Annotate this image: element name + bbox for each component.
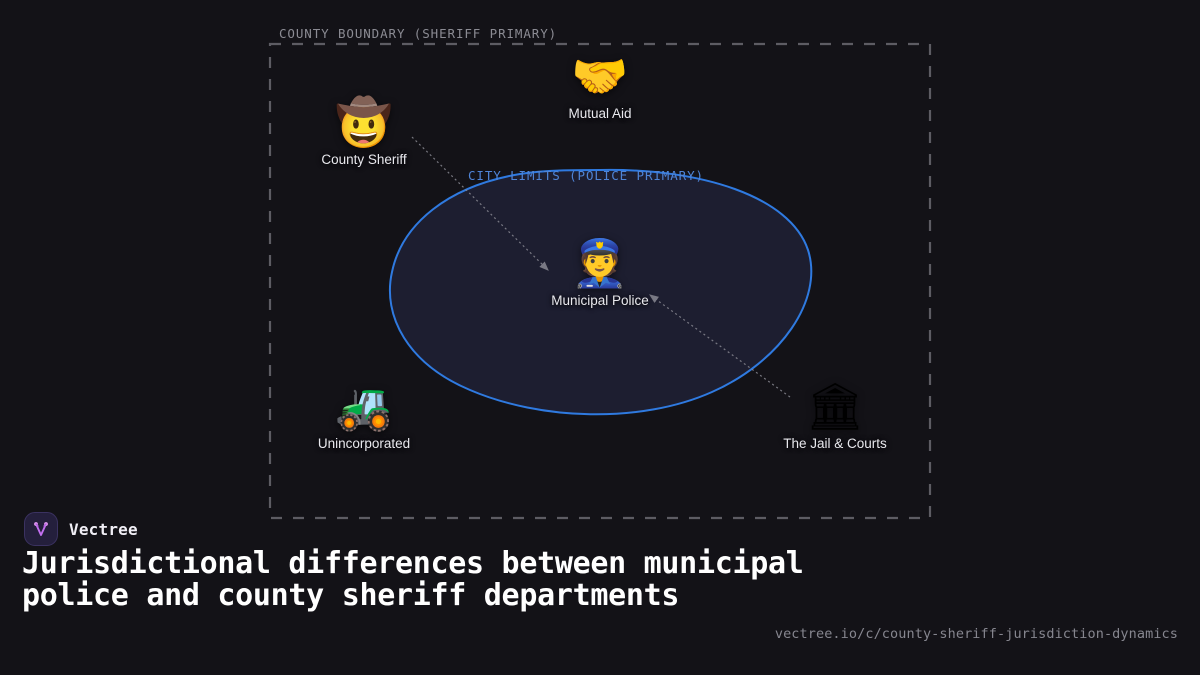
node-municipal-police[interactable]: 👮 Municipal Police bbox=[510, 237, 690, 308]
footer: Vectree Jurisdictional differences betwe… bbox=[0, 500, 1200, 675]
node-jail-and-courts[interactable]: 🏛 The Jail & Courts bbox=[745, 380, 925, 451]
brand-name: Vectree bbox=[69, 520, 138, 539]
city-limits-label: CITY LIMITS (POLICE PRIMARY) bbox=[468, 168, 704, 183]
node-label-county-sheriff: County Sheriff bbox=[274, 152, 454, 167]
node-label-jail-and-courts: The Jail & Courts bbox=[745, 436, 925, 451]
vectree-logo-icon bbox=[24, 512, 58, 546]
headline: Jurisdictional differences between munic… bbox=[22, 548, 842, 612]
slide-canvas: COUNTY BOUNDARY (SHERIFF PRIMARY) CITY L… bbox=[0, 0, 1200, 675]
node-county-sheriff[interactable]: 🤠 County Sheriff bbox=[274, 96, 454, 167]
cowboy-face-icon: 🤠 bbox=[274, 96, 454, 148]
brand[interactable]: Vectree bbox=[24, 512, 138, 546]
node-label-unincorporated: Unincorporated bbox=[274, 436, 454, 451]
diagram-area: COUNTY BOUNDARY (SHERIFF PRIMARY) CITY L… bbox=[0, 0, 1200, 520]
source-url: vectree.io/c/county-sheriff-jurisdiction… bbox=[775, 626, 1178, 642]
handshake-icon: 🤝 bbox=[510, 50, 690, 102]
node-label-mutual-aid: Mutual Aid bbox=[510, 106, 690, 121]
node-unincorporated[interactable]: 🚜 Unincorporated bbox=[274, 380, 454, 451]
police-officer-icon: 👮 bbox=[510, 237, 690, 289]
node-label-municipal-police: Municipal Police bbox=[510, 293, 690, 308]
node-mutual-aid[interactable]: 🤝 Mutual Aid bbox=[510, 50, 690, 121]
vectree-tree-glyph bbox=[31, 519, 51, 539]
tractor-icon: 🚜 bbox=[274, 380, 454, 432]
classical-building-icon: 🏛 bbox=[745, 380, 925, 432]
county-boundary-label: COUNTY BOUNDARY (SHERIFF PRIMARY) bbox=[279, 26, 557, 41]
